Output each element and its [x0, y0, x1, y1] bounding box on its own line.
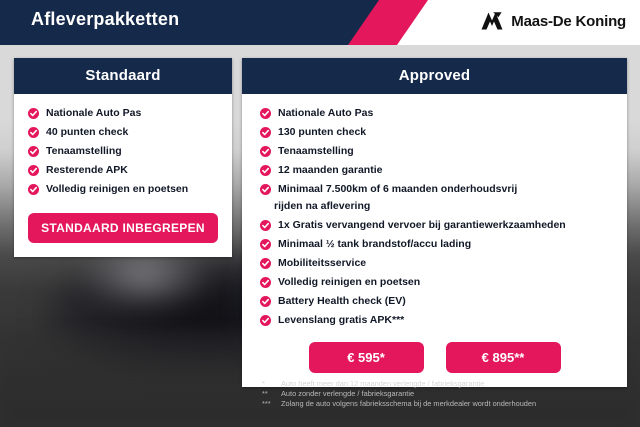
footnote-marker: *	[262, 379, 275, 389]
footnote-text: Auto heeft meer dan 12 maanden verlengde…	[281, 379, 484, 389]
footnote-text: Zolang de auto volgens fabrieksschema bi…	[281, 399, 536, 409]
approved-feature-list: Nationale Auto Pas130 punten checkTenaam…	[242, 104, 627, 330]
feature-label: Minimaal 7.500km of 6 maanden onderhouds…	[278, 182, 517, 197]
feature-label: Nationale Auto Pas	[46, 106, 141, 121]
price-button-1[interactable]: € 595*	[309, 342, 424, 373]
footnote-list: *Auto heeft meer dan 12 maanden verlengd…	[262, 379, 632, 410]
check-circle-icon	[28, 146, 39, 157]
list-item: Minimaal ½ tank brandstof/accu lading	[242, 235, 627, 254]
standard-package-card: Standaard Nationale Auto Pas40 punten ch…	[14, 58, 232, 257]
check-circle-icon	[260, 277, 271, 288]
approved-card-heading: Approved	[242, 58, 627, 94]
approved-package-card: Approved Nationale Auto Pas130 punten ch…	[242, 58, 627, 387]
check-circle-icon	[260, 239, 271, 250]
feature-label: Volledig reinigen en poetsen	[46, 182, 188, 197]
check-circle-icon	[260, 146, 271, 157]
price-button-2[interactable]: € 895**	[446, 342, 561, 373]
list-item: Minimaal 7.500km of 6 maanden onderhouds…	[242, 180, 627, 199]
footnote-marker: ***	[262, 399, 275, 409]
list-item: Battery Health check (EV)	[242, 292, 627, 311]
list-item: Nationale Auto Pas	[14, 104, 232, 123]
list-item: Mobiliteitsservice	[242, 254, 627, 273]
feature-label: 12 maanden garantie	[278, 163, 382, 178]
standard-card-body: Nationale Auto Pas40 punten checkTenaams…	[14, 94, 232, 257]
feature-label: Minimaal ½ tank brandstof/accu lading	[278, 237, 471, 252]
top-banner: Afleverpakketten Maas-De Koning	[0, 0, 640, 45]
feature-label: Volledig reinigen en poetsen	[278, 275, 420, 290]
footnote-marker: **	[262, 389, 275, 399]
feature-label: Tenaamstelling	[46, 144, 122, 159]
list-item: Tenaamstelling	[242, 142, 627, 161]
standard-card-heading: Standaard	[14, 58, 232, 94]
check-circle-icon	[260, 315, 271, 326]
feature-label: 1x Gratis vervangend vervoer bij garanti…	[278, 218, 566, 233]
footnote-row: *Auto heeft meer dan 12 maanden verlengd…	[262, 379, 632, 389]
footnote-row: **Auto zonder verlengde / fabrieksgarant…	[262, 389, 632, 399]
approved-card-body: Nationale Auto Pas130 punten checkTenaam…	[242, 94, 627, 387]
check-circle-icon	[260, 296, 271, 307]
list-item: 40 punten check	[14, 123, 232, 142]
page-title: Afleverpakketten	[31, 9, 179, 30]
check-circle-icon	[260, 165, 271, 176]
list-item: Resterende APK	[14, 161, 232, 180]
check-circle-icon	[28, 127, 39, 138]
brand-lockup: Maas-De Koning	[480, 11, 626, 31]
feature-label: Mobiliteitsservice	[278, 256, 366, 271]
list-item: Levenslang gratis APK***	[242, 311, 627, 330]
feature-label: 130 punten check	[278, 125, 366, 140]
feature-label: 40 punten check	[46, 125, 128, 140]
check-circle-icon	[260, 108, 271, 119]
check-circle-icon	[260, 220, 271, 231]
list-item: 1x Gratis vervangend vervoer bij garanti…	[242, 216, 627, 235]
list-item: Volledig reinigen en poetsen	[242, 273, 627, 292]
feature-label: Resterende APK	[46, 163, 128, 178]
check-circle-icon	[260, 184, 271, 195]
feature-label: Nationale Auto Pas	[278, 106, 373, 121]
feature-label-continuation: rijden na aflevering	[242, 199, 627, 216]
list-item: 130 punten check	[242, 123, 627, 142]
footnote-row: ***Zolang de auto volgens fabrieksschema…	[262, 399, 632, 409]
check-circle-icon	[28, 184, 39, 195]
standard-feature-list: Nationale Auto Pas40 punten checkTenaams…	[14, 104, 232, 199]
price-button-row: € 595*€ 895**	[242, 342, 627, 373]
standaard-inbegrepen-button[interactable]: STANDAARD INBEGREPEN	[28, 213, 218, 243]
footnote-text: Auto zonder verlengde / fabrieksgarantie	[281, 389, 414, 399]
list-item: 12 maanden garantie	[242, 161, 627, 180]
maas-de-koning-logo-icon	[480, 11, 504, 31]
check-circle-icon	[28, 108, 39, 119]
list-item: Volledig reinigen en poetsen	[14, 180, 232, 199]
feature-label: Levenslang gratis APK***	[278, 313, 404, 328]
slide-root: Afleverpakketten Maas-De Koning Standaar…	[0, 0, 640, 427]
feature-label: Tenaamstelling	[278, 144, 354, 159]
check-circle-icon	[260, 258, 271, 269]
feature-label: Battery Health check (EV)	[278, 294, 406, 309]
list-item: Tenaamstelling	[14, 142, 232, 161]
brand-name: Maas-De Koning	[511, 13, 626, 30]
list-item: Nationale Auto Pas	[242, 104, 627, 123]
check-circle-icon	[260, 127, 271, 138]
check-circle-icon	[28, 165, 39, 176]
